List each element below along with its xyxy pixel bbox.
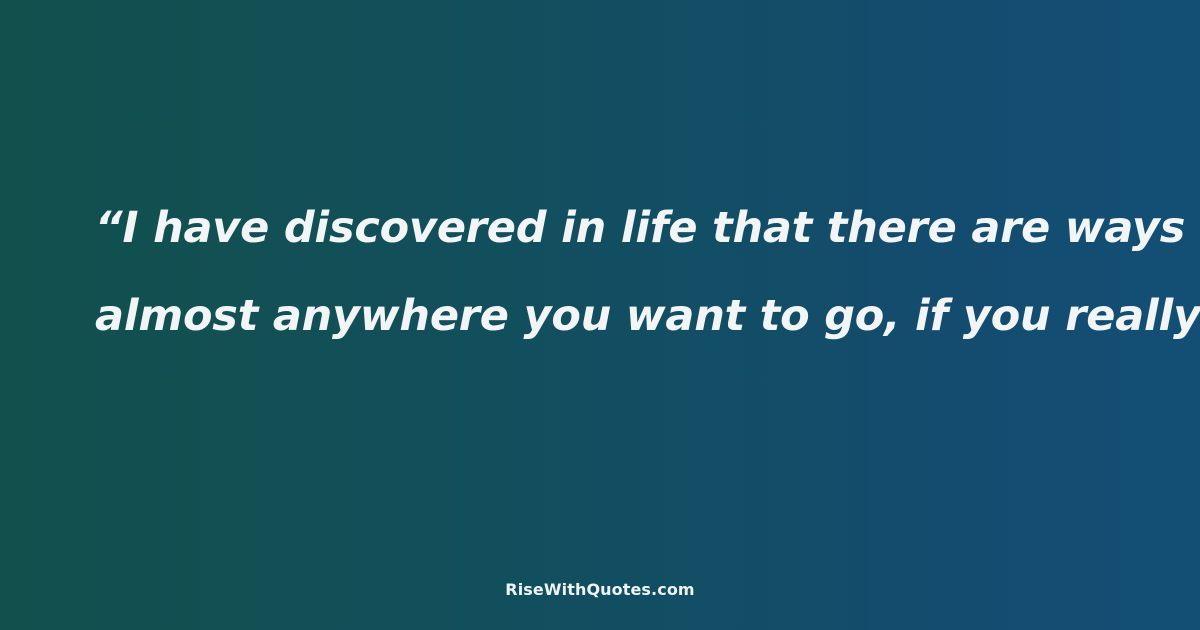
quote-line-1: “I have discovered in life that there ar… — [95, 184, 1185, 272]
quote-card: “I have discovered in life that there ar… — [0, 0, 1200, 630]
quote-line-2: almost anywhere you want to go, if you r… — [95, 272, 1185, 360]
site-attribution: RiseWithQuotes.com — [0, 580, 1200, 600]
quote-text: “I have discovered in life that there ar… — [95, 184, 1185, 360]
